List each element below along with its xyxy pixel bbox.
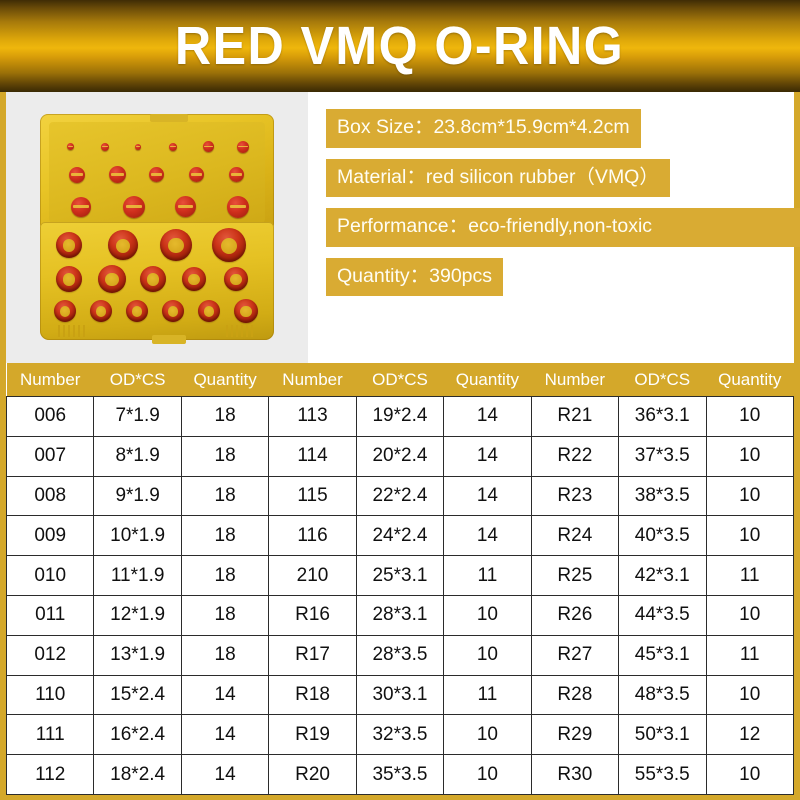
table-cell: 40*3.5 bbox=[619, 516, 706, 556]
spec-list: Box Size：23.8cm*15.9cm*4.2cm Material：re… bbox=[308, 92, 794, 363]
table-cell: 10 bbox=[706, 436, 794, 476]
lid-oring-slot bbox=[101, 143, 109, 151]
table-cell: 11 bbox=[444, 675, 531, 715]
table-cell: 18 bbox=[181, 635, 268, 675]
table-cell: R22 bbox=[531, 436, 618, 476]
table-cell: 50*3.1 bbox=[619, 715, 706, 755]
case-base bbox=[40, 222, 274, 340]
lid-oring-slot bbox=[189, 167, 204, 182]
column-header-0: Number bbox=[7, 363, 94, 397]
base-oring-well bbox=[212, 228, 246, 262]
table-cell: R24 bbox=[531, 516, 618, 556]
table-cell: R28 bbox=[531, 675, 618, 715]
table-header-row: NumberOD*CSQuantityNumberOD*CSQuantityNu… bbox=[7, 363, 794, 397]
table-cell: R30 bbox=[531, 755, 618, 795]
base-oring-well bbox=[126, 300, 148, 322]
table-cell: 10 bbox=[444, 595, 531, 635]
lid-oring-slot bbox=[229, 167, 244, 182]
table-cell: 18 bbox=[181, 556, 268, 596]
table-cell: 14 bbox=[444, 476, 531, 516]
table-row: 11116*2.414R1932*3.510R2950*3.112 bbox=[7, 715, 794, 755]
table-cell: 14 bbox=[181, 675, 268, 715]
table-cell: 35*3.5 bbox=[356, 755, 443, 795]
base-oring-well bbox=[108, 230, 138, 260]
product-photo-panel bbox=[6, 92, 308, 363]
table-cell: 16*2.4 bbox=[94, 715, 181, 755]
table-cell: 115 bbox=[269, 476, 356, 516]
table-cell: 7*1.9 bbox=[94, 397, 181, 437]
lid-oring-slot bbox=[109, 166, 126, 183]
table-cell: 113 bbox=[269, 397, 356, 437]
column-header-5: Quantity bbox=[444, 363, 531, 397]
table-cell: 18 bbox=[181, 516, 268, 556]
spec-row-performance: Performance：eco-friendly,non-toxic bbox=[326, 208, 800, 247]
table-cell: 10 bbox=[706, 516, 794, 556]
table-cell: 18 bbox=[181, 476, 268, 516]
table-cell: 009 bbox=[7, 516, 94, 556]
table-cell: 42*3.1 bbox=[619, 556, 706, 596]
case-grip-ridge-left bbox=[58, 325, 88, 337]
table-cell: 111 bbox=[7, 715, 94, 755]
column-header-1: OD*CS bbox=[94, 363, 181, 397]
spec-label: Performance： bbox=[337, 215, 468, 237]
table-cell: 55*3.5 bbox=[619, 755, 706, 795]
table-cell: 110 bbox=[7, 675, 94, 715]
table-cell: 10 bbox=[706, 755, 794, 795]
table-cell: R21 bbox=[531, 397, 618, 437]
table-body: 0067*1.91811319*2.414R2136*3.1100078*1.9… bbox=[7, 397, 794, 795]
table-cell: R16 bbox=[269, 595, 356, 635]
case-lid-inner bbox=[49, 122, 265, 223]
table-cell: 11*1.9 bbox=[94, 556, 181, 596]
spec-label: Quantity： bbox=[337, 265, 429, 287]
table-cell: 010 bbox=[7, 556, 94, 596]
lid-oring-slot bbox=[227, 196, 249, 218]
table-cell: R19 bbox=[269, 715, 356, 755]
case-grip-ridge-right bbox=[226, 325, 256, 337]
table-cell: 14 bbox=[181, 715, 268, 755]
base-oring-well bbox=[54, 300, 76, 322]
table-cell: 012 bbox=[7, 635, 94, 675]
table-cell: 48*3.5 bbox=[619, 675, 706, 715]
column-header-6: Number bbox=[531, 363, 618, 397]
base-oring-well bbox=[198, 300, 220, 322]
table-cell: 8*1.9 bbox=[94, 436, 181, 476]
table-row: 11015*2.414R1830*3.111R2848*3.510 bbox=[7, 675, 794, 715]
table-cell: 28*3.1 bbox=[356, 595, 443, 635]
table-cell: 19*2.4 bbox=[356, 397, 443, 437]
table-header: NumberOD*CSQuantityNumberOD*CSQuantityNu… bbox=[7, 363, 794, 397]
table-cell: 15*2.4 bbox=[94, 675, 181, 715]
table-row: 01112*1.918R1628*3.110R2644*3.510 bbox=[7, 595, 794, 635]
spec-row-box-size: Box Size：23.8cm*15.9cm*4.2cm bbox=[326, 109, 641, 148]
table-cell: 12 bbox=[706, 715, 794, 755]
table-cell: 14 bbox=[444, 516, 531, 556]
table-row: 00910*1.91811624*2.414R2440*3.510 bbox=[7, 516, 794, 556]
lid-oring-slot bbox=[237, 141, 249, 153]
spec-label: Box Size： bbox=[337, 116, 433, 138]
lid-oring-slot bbox=[67, 143, 74, 150]
table-cell: 13*1.9 bbox=[94, 635, 181, 675]
table-cell: 10 bbox=[444, 635, 531, 675]
table-cell: R20 bbox=[269, 755, 356, 795]
spec-value: 390pcs bbox=[429, 265, 492, 287]
lid-oring-slot bbox=[71, 197, 91, 217]
table-cell: 18*2.4 bbox=[94, 755, 181, 795]
table-cell: 14 bbox=[181, 755, 268, 795]
table-cell: 30*3.1 bbox=[356, 675, 443, 715]
table-cell: 10 bbox=[706, 397, 794, 437]
table-cell: 006 bbox=[7, 397, 94, 437]
table-row: 11218*2.414R2035*3.510R3055*3.510 bbox=[7, 755, 794, 795]
spec-row-material: Material：red silicon rubber（VMQ） bbox=[326, 159, 670, 198]
table-cell: 28*3.5 bbox=[356, 635, 443, 675]
table-cell: 36*3.1 bbox=[619, 397, 706, 437]
lid-oring-slot bbox=[175, 196, 196, 217]
base-oring-well bbox=[234, 299, 258, 323]
case-lid bbox=[40, 114, 274, 229]
table-cell: 210 bbox=[269, 556, 356, 596]
table-cell: 18 bbox=[181, 595, 268, 635]
lid-oring-slot bbox=[149, 167, 164, 182]
column-header-4: OD*CS bbox=[356, 363, 443, 397]
table-cell: 10 bbox=[444, 715, 531, 755]
table-cell: 11 bbox=[706, 635, 794, 675]
base-oring-well bbox=[56, 232, 82, 258]
base-oring-well bbox=[162, 300, 184, 322]
table-cell: 11 bbox=[444, 556, 531, 596]
table-cell: 12*1.9 bbox=[94, 595, 181, 635]
column-header-7: OD*CS bbox=[619, 363, 706, 397]
spec-value: red silicon rubber（VMQ） bbox=[426, 166, 659, 188]
table-cell: 14 bbox=[444, 436, 531, 476]
table-cell: 45*3.1 bbox=[619, 635, 706, 675]
spec-value: 23.8cm*15.9cm*4.2cm bbox=[433, 116, 629, 138]
lid-oring-slot bbox=[169, 143, 177, 151]
table-row: 0067*1.91811319*2.414R2136*3.110 bbox=[7, 397, 794, 437]
table-cell: 011 bbox=[7, 595, 94, 635]
table-cell: 14 bbox=[444, 397, 531, 437]
spec-row-quantity: Quantity：390pcs bbox=[326, 258, 503, 297]
table-cell: 10 bbox=[706, 675, 794, 715]
table-row: 0089*1.91811522*2.414R2338*3.510 bbox=[7, 476, 794, 516]
column-header-8: Quantity bbox=[706, 363, 794, 397]
table-cell: 32*3.5 bbox=[356, 715, 443, 755]
base-oring-well bbox=[90, 300, 112, 322]
oring-case-illustration bbox=[28, 110, 286, 346]
table-cell: 18 bbox=[181, 397, 268, 437]
table-cell: R25 bbox=[531, 556, 618, 596]
table-cell: 24*2.4 bbox=[356, 516, 443, 556]
table-cell: R17 bbox=[269, 635, 356, 675]
spec-value: eco-friendly,non-toxic bbox=[468, 215, 652, 237]
lid-oring-slot bbox=[135, 144, 141, 150]
case-hinge bbox=[150, 114, 188, 122]
table-cell: 008 bbox=[7, 476, 94, 516]
table-cell: 114 bbox=[269, 436, 356, 476]
size-chart-table: NumberOD*CSQuantityNumberOD*CSQuantityNu… bbox=[6, 363, 794, 795]
table-cell: 10 bbox=[444, 755, 531, 795]
table-cell: 22*2.4 bbox=[356, 476, 443, 516]
base-oring-well bbox=[98, 265, 126, 293]
base-oring-well bbox=[182, 267, 206, 291]
spec-label: Material： bbox=[337, 166, 426, 188]
table-cell: 25*3.1 bbox=[356, 556, 443, 596]
table-cell: 9*1.9 bbox=[94, 476, 181, 516]
table-row: 01213*1.918R1728*3.510R2745*3.111 bbox=[7, 635, 794, 675]
table-cell: 007 bbox=[7, 436, 94, 476]
page-title: RED VMQ O-RING bbox=[175, 19, 624, 73]
table-cell: 37*3.5 bbox=[619, 436, 706, 476]
column-header-3: Number bbox=[269, 363, 356, 397]
table-cell: 20*2.4 bbox=[356, 436, 443, 476]
lid-oring-slot bbox=[123, 196, 145, 218]
lid-oring-slot bbox=[203, 141, 214, 152]
title-banner: RED VMQ O-RING bbox=[0, 0, 800, 92]
table-cell: 10 bbox=[706, 476, 794, 516]
hero-section: Box Size：23.8cm*15.9cm*4.2cm Material：re… bbox=[6, 92, 794, 363]
product-infographic: RED VMQ O-RING Box Size：23.8cm*15.9cm*4.… bbox=[0, 0, 800, 800]
base-oring-well bbox=[56, 266, 82, 292]
table-cell: R27 bbox=[531, 635, 618, 675]
table-cell: R23 bbox=[531, 476, 618, 516]
base-oring-well bbox=[140, 266, 166, 292]
table-row: 0078*1.91811420*2.414R2237*3.510 bbox=[7, 436, 794, 476]
table-cell: R18 bbox=[269, 675, 356, 715]
lid-oring-slot bbox=[69, 167, 85, 183]
table-cell: 10*1.9 bbox=[94, 516, 181, 556]
table-cell: 38*3.5 bbox=[619, 476, 706, 516]
column-header-2: Quantity bbox=[181, 363, 268, 397]
table-cell: 116 bbox=[269, 516, 356, 556]
table-row: 01011*1.91821025*3.111R2542*3.111 bbox=[7, 556, 794, 596]
table-cell: 44*3.5 bbox=[619, 595, 706, 635]
base-oring-well bbox=[224, 267, 248, 291]
table-cell: R26 bbox=[531, 595, 618, 635]
table-cell: R29 bbox=[531, 715, 618, 755]
table-cell: 11 bbox=[706, 556, 794, 596]
table-cell: 10 bbox=[706, 595, 794, 635]
base-oring-well bbox=[160, 229, 192, 261]
table-cell: 18 bbox=[181, 436, 268, 476]
table-cell: 112 bbox=[7, 755, 94, 795]
case-latch bbox=[152, 335, 186, 344]
